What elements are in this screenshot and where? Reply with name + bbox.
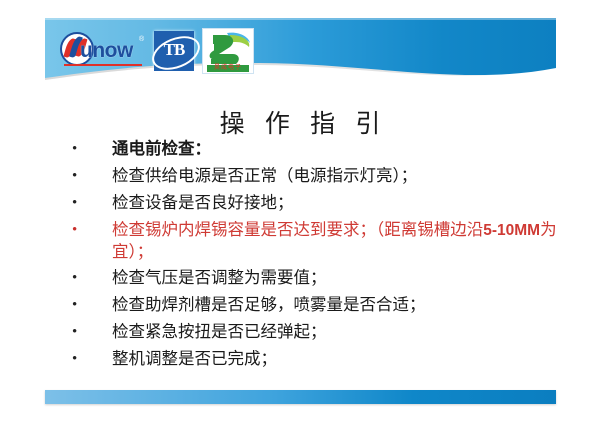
- list-item: • 整机调整是否已完成；: [68, 348, 568, 370]
- list-item: • 检查紧急按扭是否已经弹起；: [68, 321, 568, 343]
- list-item-text: 检查供给电源是否正常（电源指示灯亮）；: [112, 165, 568, 186]
- list-item-text: 检查设备是否良好接地；: [112, 192, 568, 213]
- bullet-marker-icon: •: [68, 348, 112, 370]
- bullet-marker-icon: •: [68, 321, 112, 343]
- list-item-text: 通电前检查：: [112, 138, 568, 159]
- bullet-marker-icon: •: [68, 138, 112, 160]
- bullet-marker-icon: •: [68, 267, 112, 289]
- bullet-marker-icon: •: [68, 219, 112, 241]
- list-item-text: 检查气压是否调整为需要值；: [112, 267, 568, 288]
- list-item: • 通电前检查：: [68, 138, 568, 160]
- unow-logo: unow ®: [58, 30, 146, 72]
- list-item-text: 检查助焊剂槽是否足够，喷雾量是否合适；: [112, 294, 568, 315]
- list-item-text: 检查紧急按扭是否已经弹起；: [112, 321, 568, 342]
- list-item-highlighted: • 检查锡炉内焊锡容量是否达到要求；（距离锡槽边沿5-10MM为宜）；: [68, 219, 568, 262]
- list-item-text-emphasis: 5-10MM: [483, 222, 540, 239]
- bullet-marker-icon: •: [68, 192, 112, 214]
- logo-row: unow ® TB 昊成电子: [58, 26, 254, 76]
- list-item: • 检查供给电源是否正常（电源指示灯亮）；: [68, 165, 568, 187]
- list-item-text-before: 检查锡炉内焊锡容量是否达到要求；（距离锡槽边沿: [112, 220, 483, 239]
- list-item-text: 检查锡炉内焊锡容量是否达到要求；（距离锡槽边沿5-10MM为宜）；: [112, 219, 568, 262]
- green-swoosh-logo: 昊成电子: [202, 28, 254, 74]
- green-logo-caption: 昊成电子: [203, 64, 253, 72]
- slide-canvas: unow ® TB 昊成电子 操 作 指 引 • 通电前: [0, 0, 600, 424]
- bullet-marker-icon: •: [68, 294, 112, 316]
- list-item: • 检查设备是否良好接地；: [68, 192, 568, 214]
- list-item: • 检查气压是否调整为需要值；: [68, 267, 568, 289]
- registered-mark-icon: ®: [139, 36, 144, 43]
- unow-underline: [64, 64, 142, 66]
- banner-edge-highlight: [45, 18, 556, 20]
- bullet-list: • 通电前检查： • 检查供给电源是否正常（电源指示灯亮）； • 检查设备是否良…: [68, 138, 568, 375]
- page-title: 操 作 指 引: [0, 104, 600, 140]
- bullet-marker-icon: •: [68, 165, 112, 187]
- list-item: • 检查助焊剂槽是否足够，喷雾量是否合适；: [68, 294, 568, 316]
- tb-wordmark: TB: [154, 40, 194, 60]
- footer-bar: [45, 390, 556, 404]
- tb-badge-logo: TB: [154, 31, 194, 71]
- list-item-text: 整机调整是否已完成；: [112, 348, 568, 369]
- unow-wordmark: unow: [80, 39, 133, 63]
